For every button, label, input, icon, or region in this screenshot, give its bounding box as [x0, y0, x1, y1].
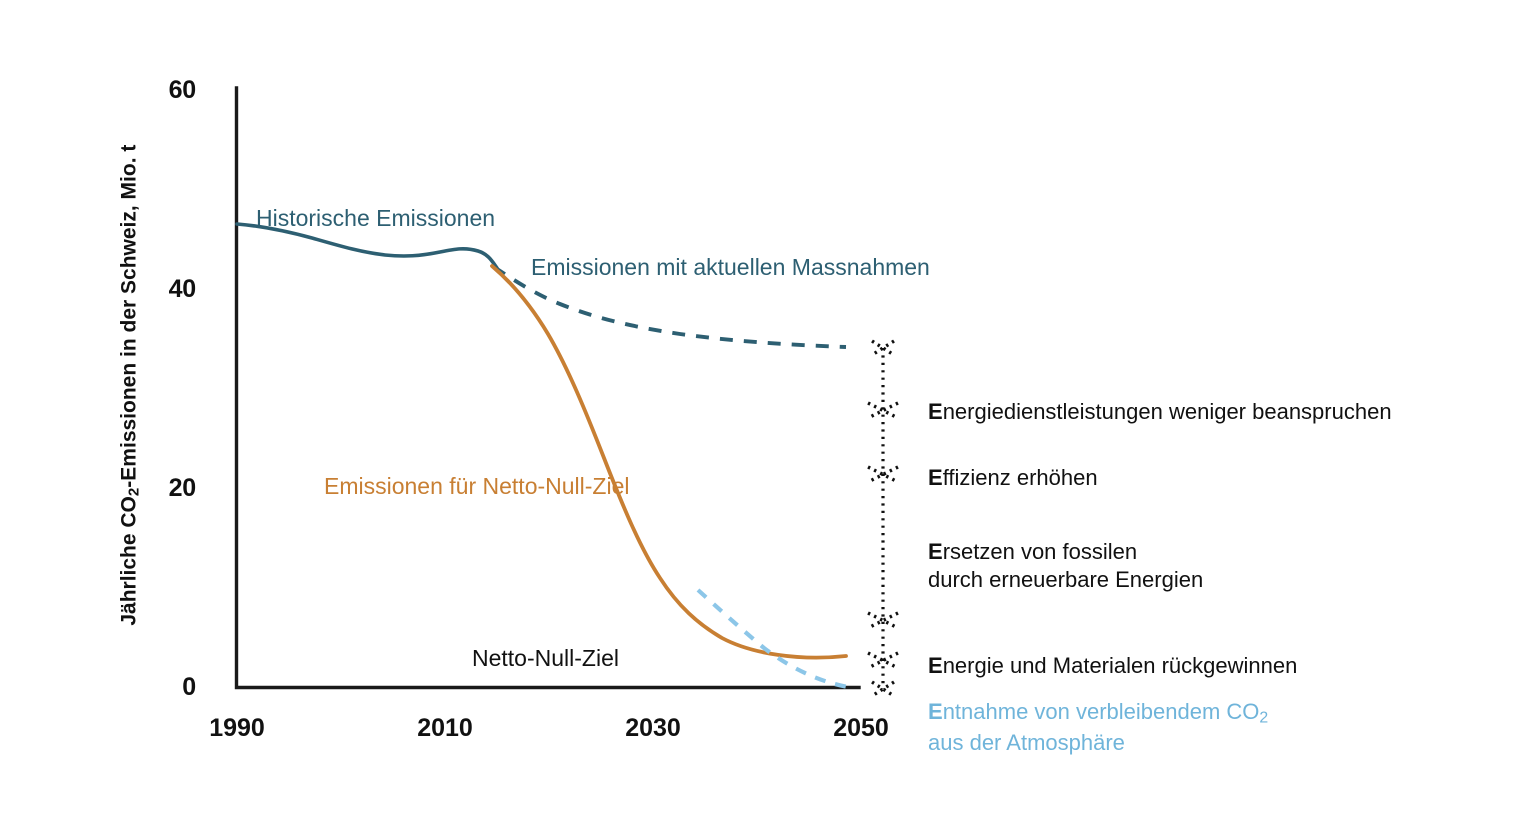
series-label-netzero-target: Netto-Null-Ziel [472, 645, 619, 672]
chart-axes [237, 88, 860, 688]
chart-container: Jährliche CO2-Emissionen in der Schweiz,… [0, 0, 1536, 819]
bracket-annotation-4-subscript: 2 [1259, 709, 1268, 726]
x-tick-2010: 2010 [417, 714, 473, 743]
bracket-annotation-1: Effizienz erhöhen [928, 436, 1098, 492]
x-tick-2030: 2030 [625, 714, 681, 743]
y-axis-title: Jährliche CO2-Emissionen in der Schweiz,… [117, 166, 142, 626]
bracket-annotation-1-bold: E [928, 465, 943, 490]
series-label-netzero: Emissionen für Netto-Null-Ziel [324, 473, 629, 500]
bracket-group [868, 341, 898, 696]
bracket-annotation-4-text-tail: aus der Atmosphäre [928, 730, 1125, 755]
series-netzero-emissions [492, 266, 846, 658]
y-tick-20: 20 [169, 474, 196, 503]
y-tick-40: 40 [169, 275, 196, 304]
x-tick-2050: 2050 [833, 714, 889, 743]
bracket-annotation-2-bold: E [928, 539, 943, 564]
series-label-current-measures: Emissionen mit aktuellen Massnahmen [531, 254, 930, 281]
y-axis-title-text-1: Jährliche CO [117, 496, 140, 626]
bracket-annotation-2-text: rsetzen von fossilen durch erneuerbare E… [928, 539, 1203, 592]
bracket-annotation-1-text: ffizienz erhöhen [943, 465, 1098, 490]
y-tick-0: 0 [182, 673, 196, 702]
bracket-annotation-4-text: ntnahme von verbleibendem CO [943, 699, 1260, 724]
x-tick-1990: 1990 [209, 714, 265, 743]
bracket-annotation-0-bold: E [928, 399, 943, 424]
bracket-annotation-2: Ersetzen von fossilen durch erneuerbare … [928, 510, 1203, 594]
y-axis-title-text-2: -Emissionen in der Schweiz, Mio. t [117, 145, 140, 488]
bracket-annotation-0-text: nergiedienstleistungen weniger beanspruc… [943, 399, 1392, 424]
bracket-annotation-4-bold: E [928, 699, 943, 724]
series-label-historical: Historische Emissionen [256, 205, 495, 232]
y-tick-60: 60 [169, 76, 196, 105]
y-axis-title-subscript: 2 [126, 488, 143, 496]
bracket-annotation-4: Entnahme von verbleibendem CO2 aus der A… [928, 670, 1268, 756]
bracket-annotation-0: Energiedienstleistungen weniger beanspru… [928, 370, 1392, 426]
